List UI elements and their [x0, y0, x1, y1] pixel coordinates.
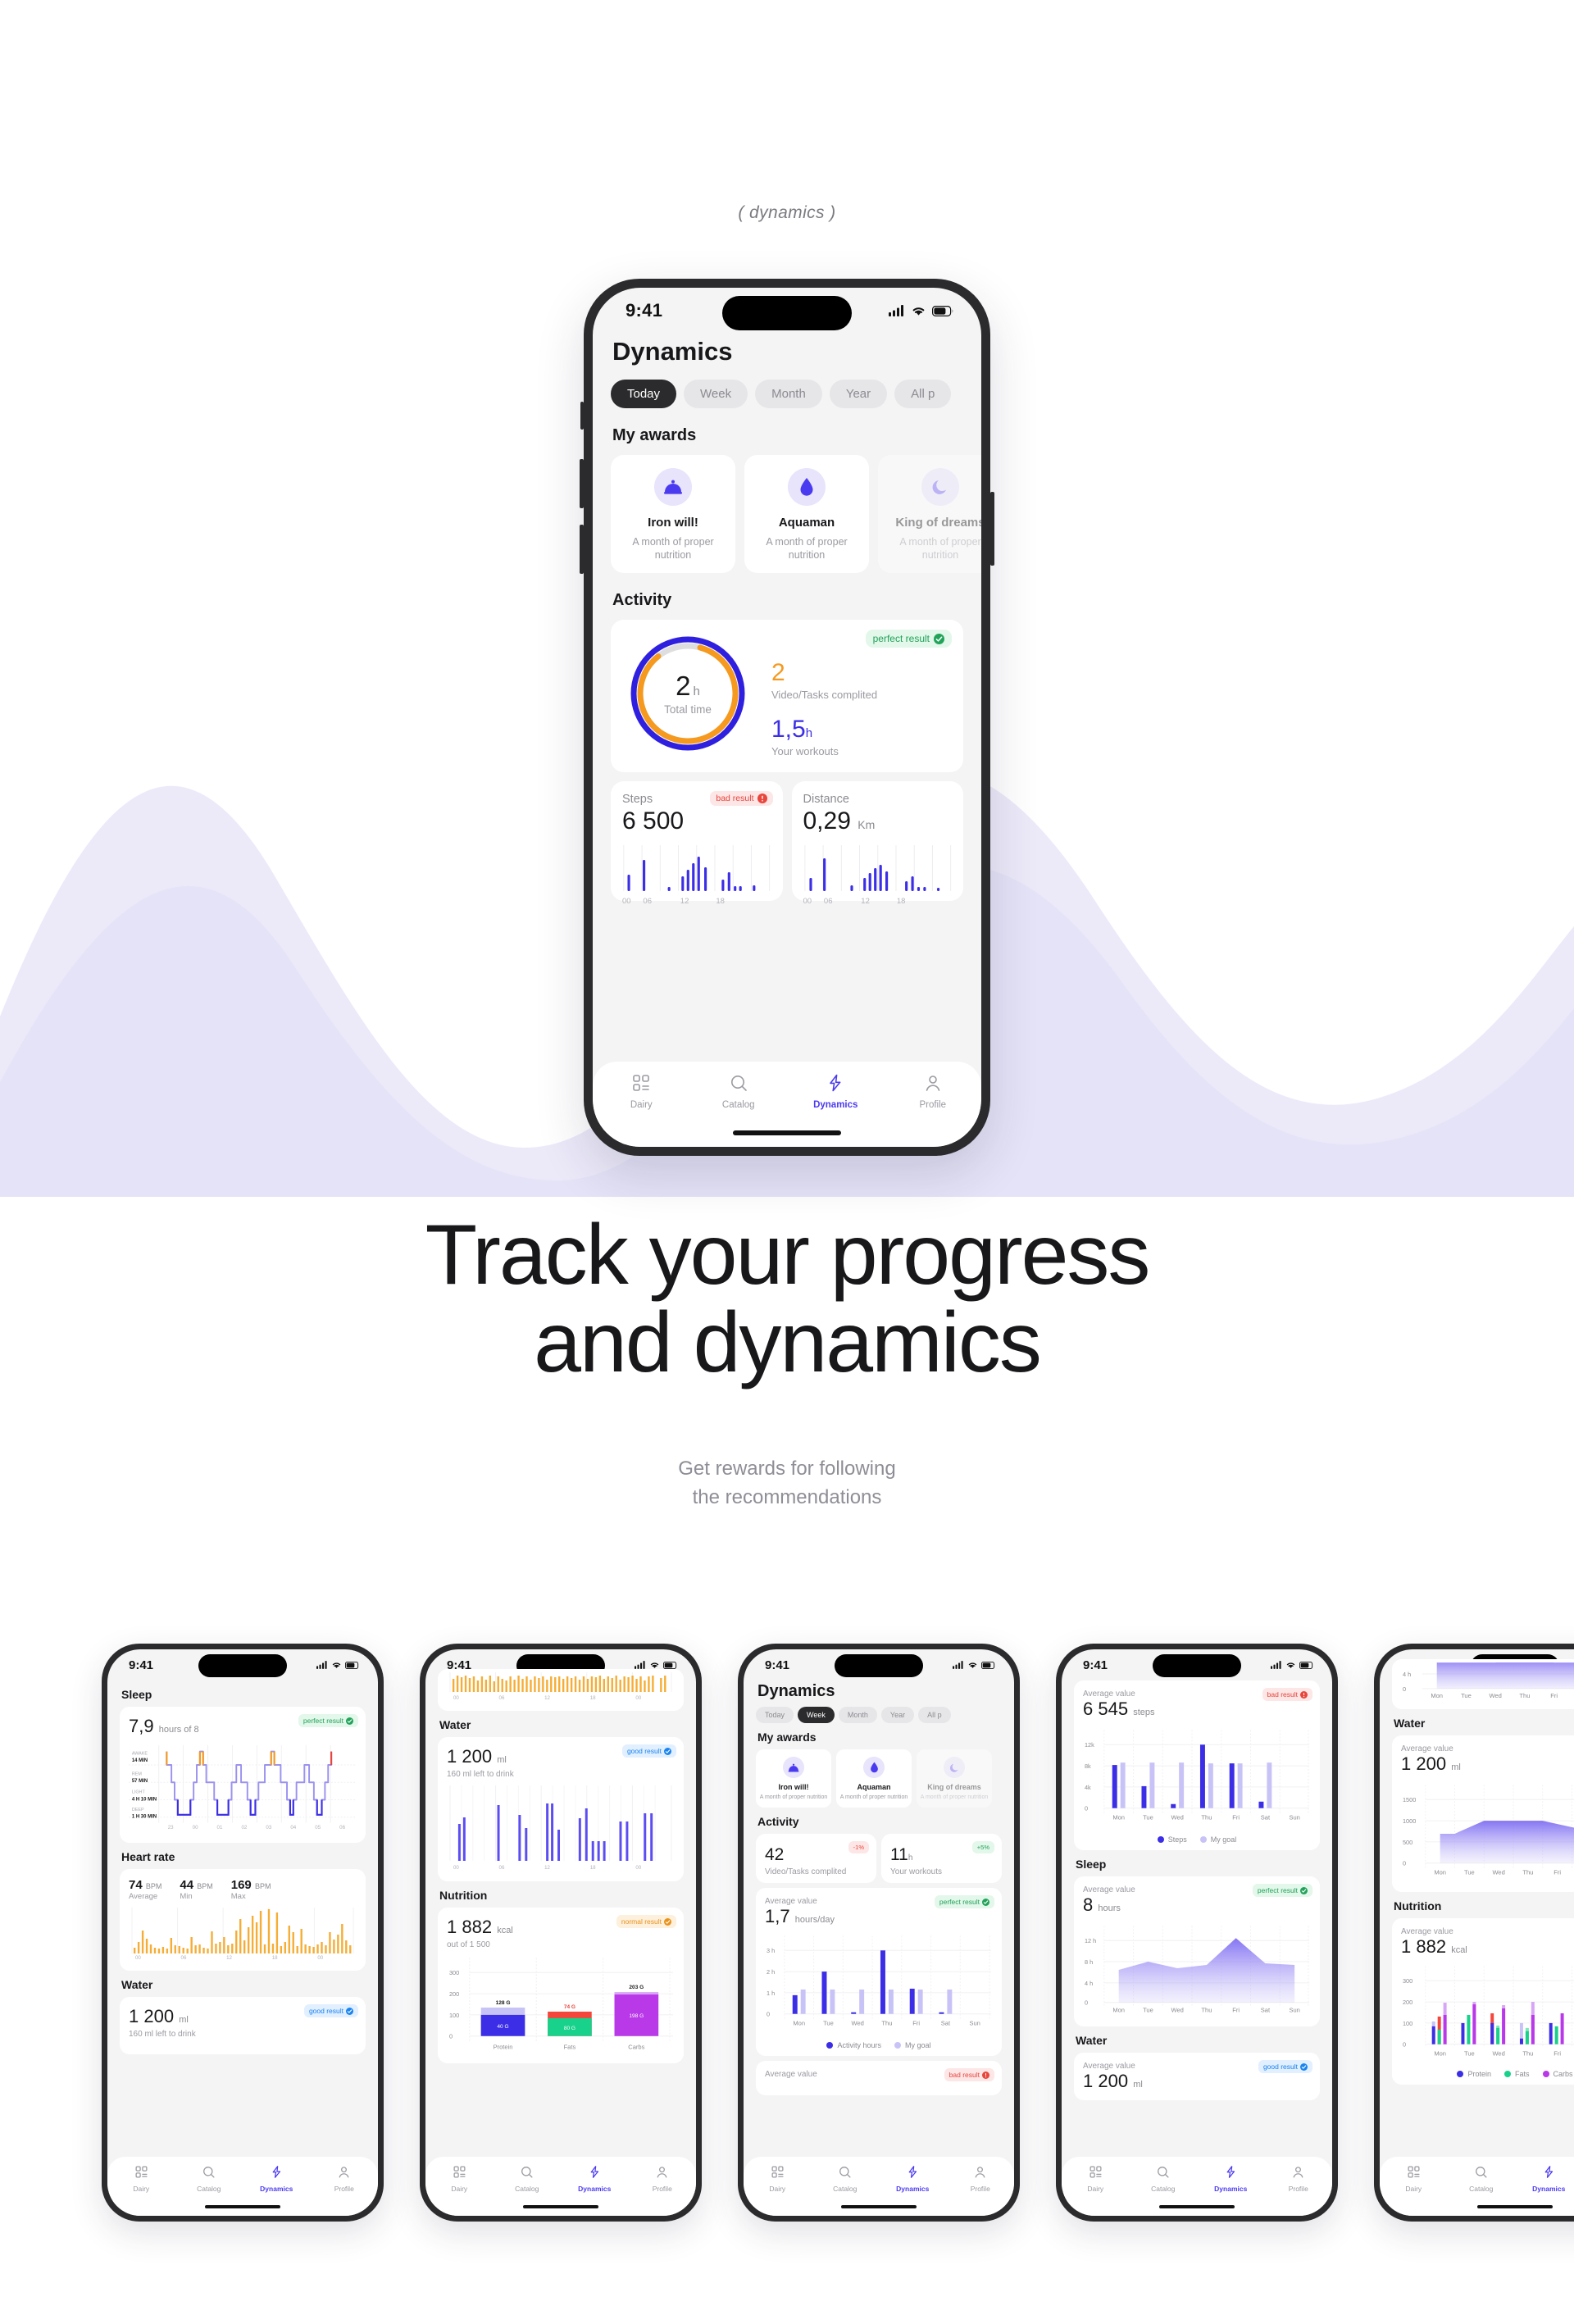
avg-value: 1,7 hours/day [765, 1906, 993, 1927]
home-indicator[interactable] [1159, 2205, 1235, 2208]
water-unit: ml [497, 1755, 507, 1765]
home-indicator[interactable] [523, 2205, 598, 2208]
y-tick: 0 [767, 2011, 770, 2018]
warning-icon [1300, 1691, 1308, 1699]
workouts-stat-card[interactable]: +5% 11h Your workouts [881, 1834, 1002, 1883]
x-tick: Mon [1112, 1814, 1125, 1821]
axis-tick: 03 [266, 1825, 271, 1831]
tab-all-period[interactable]: All p [918, 1707, 951, 1723]
lightning-icon [1542, 2165, 1556, 2179]
nutrition-card[interactable]: normal result 1 882 kcal out of 1 500 [438, 1908, 684, 2063]
nutrition-week-card[interactable]: Average value 1 882 kcal [1392, 1918, 1574, 2085]
badge-label: normal result [621, 1917, 662, 1926]
status-icons [953, 1661, 996, 1669]
warning-icon [982, 2072, 989, 2079]
tab-year[interactable]: Year [881, 1707, 914, 1723]
y-tick: 500 [1403, 1839, 1413, 1846]
x-tick: Mon [1431, 1692, 1443, 1699]
ring-value-unit: h [694, 684, 700, 698]
nav-item-dynamics[interactable]: Dynamics [879, 2165, 947, 2193]
nav-item-dynamics[interactable]: Dynamics [1197, 2165, 1265, 2193]
distance-unit: Km [858, 818, 875, 831]
status-icons [889, 305, 953, 316]
awards-list: Iron will! A month of proper nutrition A… [756, 1749, 1002, 1808]
legend-label: Fats [1515, 2070, 1530, 2078]
headline-line-2: and dynamics [0, 1299, 1574, 1387]
water-number: 1 200 [129, 2006, 174, 2026]
nav-label: Dairy [1062, 2185, 1130, 2193]
sleep-week-area-chart: 12 h 8 h 4 h 0 Mon Tue Wed Thu [1083, 1921, 1311, 2016]
chart-legend: Activity hours My goal [765, 2041, 993, 2049]
x-tick: Thu [1522, 1869, 1533, 1876]
person-icon [1291, 2165, 1305, 2179]
axis-tick: 05 [315, 1825, 321, 1831]
axis-tick: 18 [590, 1695, 596, 1700]
hr-unit: BPM [255, 1882, 271, 1890]
nav-label: Dairy [425, 2185, 494, 2193]
x-tick: Mon [1112, 2007, 1125, 2014]
nav-item-profile[interactable]: Profile [1265, 2165, 1333, 2193]
water-card[interactable]: good result 1 200 ml 160 ml left to drin… [120, 1997, 366, 2054]
steps-card[interactable]: Steps bad result 6 500 [611, 781, 783, 901]
stage-dur-light: 4 H 10 MIN [132, 1797, 157, 1802]
phone-mockup-sleep: 9:41 Sleep perfect result [102, 1644, 384, 2222]
y-tick: 200 [1403, 1999, 1413, 2006]
badge-label: bad result [1267, 1690, 1298, 1699]
sleep-section-title: Sleep [121, 1688, 366, 1701]
x-tick: Thu [881, 2020, 892, 2027]
nav-item-dairy[interactable]: Dairy [425, 2165, 494, 2193]
nav-item-dynamics[interactable]: Dynamics [243, 2165, 311, 2193]
fats-actual-label: 80 G [564, 2026, 575, 2031]
award-card-iron-will[interactable]: Iron will! A month of proper nutrition [756, 1749, 831, 1808]
legend-color-dot [1200, 1836, 1207, 1843]
badge-label: good result [1263, 2062, 1298, 2071]
axis-tick: 12 [544, 1865, 550, 1871]
avg-label: Average value [1401, 1927, 1574, 1936]
axis-tick: 04 [290, 1825, 296, 1831]
axis-tick: 06 [339, 1825, 345, 1831]
chart-legend: Protein Fats Carbs [1401, 2070, 1574, 2078]
nav-item-profile[interactable]: Profile [885, 1073, 982, 1110]
tab-year[interactable]: Year [830, 380, 887, 408]
check-icon [346, 1717, 353, 1725]
legend-color-dot [1158, 1836, 1164, 1843]
axis-tick: 18 [590, 1865, 596, 1871]
power-button[interactable] [990, 492, 994, 566]
steps-value: 6 500 [622, 807, 771, 835]
nav-item-dynamics[interactable]: Dynamics [561, 2165, 629, 2193]
axis-tick: 12 [544, 1695, 550, 1700]
tab-today[interactable]: Today [611, 380, 676, 408]
home-indicator[interactable] [841, 2205, 917, 2208]
home-indicator[interactable] [205, 2205, 280, 2208]
nutrition-number: 1 882 [1401, 1936, 1446, 1957]
nav-label: Dynamics [243, 2185, 311, 2193]
person-icon [923, 1073, 943, 1093]
award-name: Iron will! [759, 1783, 828, 1791]
workouts-unit: h [806, 726, 812, 740]
battery-icon [981, 1662, 996, 1669]
dynamic-island [1153, 1654, 1241, 1677]
nav-label: Profile [885, 1100, 982, 1110]
x-tick-protein: Protein [494, 2044, 513, 2051]
hr-unit: BPM [197, 1882, 213, 1890]
nav-item-profile[interactable]: Profile [947, 2165, 1015, 2193]
cellular-icon [316, 1661, 328, 1669]
y-tick: 300 [1403, 1977, 1413, 1985]
search-icon [838, 2165, 852, 2179]
nav-item-catalog[interactable]: Catalog [494, 2165, 562, 2193]
legend-color-dot [894, 2042, 901, 2049]
page-title: Dynamics [612, 337, 963, 366]
sleep-hypnogram-chart: AWAKE 14 MIN REM 57 MIN LIGHT 4 H 10 MIN… [129, 1744, 357, 1832]
nutrition-number: 1 882 [447, 1917, 492, 1937]
axis-tick: 06 [643, 897, 680, 906]
steps-number: 6 545 [1083, 1699, 1128, 1719]
tab-month[interactable]: Month [839, 1707, 877, 1723]
status-badge: bad result [1262, 1688, 1312, 1701]
water-drop-icon [863, 1757, 885, 1778]
x-tick: Wed [1492, 1869, 1504, 1876]
protein-actual-label: 40 G [497, 2024, 508, 2030]
check-icon [664, 1918, 671, 1926]
legend-label: My goal [905, 2041, 931, 2049]
x-tick: Sat [1261, 1814, 1271, 1821]
activity-hours-week-chart: 3 h 2 h 1 h 0 [765, 1932, 993, 2032]
distance-number: 0,29 [803, 807, 851, 835]
sleep-week-area-partial: 4 h 0 Mon Tue Wed Thu Fri Sat Sun [1401, 1662, 1574, 1699]
nav-item-catalog[interactable]: Catalog [812, 2165, 880, 2193]
status-bar: 9:41 [593, 288, 981, 334]
status-badge: bad result [944, 2068, 994, 2081]
hr-unit: BPM [146, 1882, 162, 1890]
grid-icon [453, 2165, 466, 2179]
legend-color-dot [1457, 2071, 1463, 2077]
nav-item-dairy[interactable]: Dairy [593, 1073, 690, 1110]
hr-value: 74 BPM [129, 1878, 161, 1892]
x-tick: Wed [1492, 2050, 1504, 2058]
phone-screen: 9:41 [425, 1649, 696, 2216]
activity-card[interactable]: perfect result 2h [611, 620, 963, 772]
axis-tick: 00 [635, 1695, 641, 1700]
nav-item-catalog[interactable]: Catalog [175, 2165, 243, 2193]
award-card-aquaman[interactable]: Aquaman A month of proper nutrition [744, 455, 869, 573]
nutrition-value: 1 882 kcal [1401, 1936, 1574, 1958]
period-filter-tabs[interactable]: Today Week Month Year All p [756, 1707, 1002, 1723]
nav-item-dynamics[interactable]: Dynamics [1515, 2165, 1574, 2193]
sleep-week-card[interactable]: perfect result Average value 8 hours [1074, 1876, 1320, 2026]
status-bar: 9:41 [1062, 1649, 1332, 1680]
x-tick: Fri [912, 2020, 920, 2027]
nutrition-bar-chart: 300 200 100 0 128 G 40 G [447, 1956, 675, 2053]
check-icon [1300, 2063, 1308, 2071]
cellular-icon [635, 1661, 646, 1669]
legend-my-goal: My goal [1200, 1835, 1237, 1844]
grid-icon [631, 1073, 651, 1093]
status-badge: perfect result [298, 1714, 358, 1727]
hr-label: Max [231, 1892, 271, 1901]
nav-label: Profile [629, 2185, 697, 2193]
steps-week-card[interactable]: bad result Average value 6 545 steps [1074, 1680, 1320, 1850]
nav-label: Dynamics [787, 1100, 885, 1110]
award-desc: A month of proper nutrition [759, 1794, 828, 1801]
y-tick: 200 [449, 1990, 459, 1998]
x-tick: Thu [1519, 1692, 1530, 1699]
check-icon [1300, 1887, 1308, 1894]
status-time: 9:41 [626, 300, 662, 321]
activity-hours-card[interactable]: perfect result Average value 1,7 hours/d… [756, 1888, 1002, 2056]
status-time: 9:41 [1083, 1658, 1108, 1672]
water-section-title: Water [1394, 1717, 1574, 1730]
home-indicator[interactable] [1477, 2205, 1553, 2208]
axis-tick: 23 [168, 1825, 174, 1831]
y-tick: 1 h [767, 1990, 775, 1997]
home-indicator[interactable] [733, 1130, 841, 1135]
nav-item-dairy[interactable]: Dairy [1380, 2165, 1448, 2193]
legend-my-goal: My goal [894, 2041, 931, 2049]
water-week-card[interactable]: good result Average value 1 200 ml [1074, 2053, 1320, 2100]
sleep-number: 7,9 [129, 1716, 154, 1736]
nav-label: Profile [947, 2185, 1015, 2193]
sleep-area [1119, 1938, 1294, 2002]
period-filter-tabs[interactable]: Today Week Month Year All p [611, 380, 963, 408]
y-tick: 1000 [1403, 1817, 1416, 1825]
steps-status-badge: bad result [710, 791, 772, 806]
grid-icon [134, 2165, 148, 2179]
status-badge: perfect result [866, 630, 952, 648]
delta-badge: +5% [972, 1841, 994, 1853]
x-tick: Tue [1143, 1814, 1153, 1821]
y-tick: 4k [1085, 1784, 1091, 1791]
nav-item-dairy[interactable]: Dairy [1062, 2165, 1130, 2193]
badge-label: bad result [716, 794, 753, 803]
legend-steps: Steps [1158, 1835, 1187, 1844]
volume-down-button[interactable] [580, 525, 584, 574]
tab-all-period[interactable]: All p [894, 380, 951, 408]
axis-tick: 12 [861, 897, 897, 906]
battery-icon [345, 1662, 360, 1669]
hr-value: 44 BPM [180, 1878, 212, 1892]
x-tick: Tue [1464, 2050, 1475, 2058]
sleep-card[interactable]: perfect result 7,9 hours of 8 [120, 1707, 366, 1843]
axis-tick: 00 [803, 897, 824, 906]
x-tick: Thu [1522, 2050, 1533, 2058]
water-hourly-bar-chart: 00 06 12 18 00 [447, 1785, 675, 1871]
lightning-icon [826, 1073, 845, 1093]
y-tick: 0 [1085, 1999, 1088, 2007]
volume-up-button[interactable] [580, 459, 584, 508]
x-tick: Fri [1550, 1692, 1558, 1699]
person-icon [973, 2165, 987, 2179]
heart-rate-card-partial[interactable]: 00 06 12 18 00 [438, 1669, 684, 1711]
person-icon [655, 2165, 669, 2179]
phone-content: Sleep perfect result 7,9 hours of 8 [107, 1688, 378, 2054]
hr-label: Average [129, 1892, 161, 1901]
water-week-card[interactable]: Average value 1 200 ml [1392, 1735, 1574, 1892]
hr-number: 44 [180, 1878, 193, 1892]
hero-subheadline: Get rewards for following the recommenda… [0, 1455, 1574, 1512]
battery-icon [1299, 1662, 1314, 1669]
phone-content: bad result Average value 6 545 steps [1062, 1680, 1332, 2100]
awards-section-title: My awards [612, 426, 963, 445]
phone-content: Dynamics Today Week Month Year All p My … [744, 1682, 1014, 2095]
nav-item-dairy[interactable]: Dairy [107, 2165, 175, 2193]
stage-label-rem: REM [132, 1772, 142, 1777]
y-tick: 12k [1085, 1741, 1094, 1749]
hr-value: 169 BPM [231, 1878, 271, 1892]
sleep-week-card-partial[interactable]: 4 h 0 Mon Tue Wed Thu Fri Sat Sun [1392, 1659, 1574, 1709]
dome-icon [783, 1757, 804, 1778]
award-name: Iron will! [617, 516, 729, 530]
nav-label: Dynamics [561, 2185, 629, 2193]
phone-screen: 9:41 Dynamics Today Week Month Year [744, 1649, 1014, 2216]
workouts-label: Your workouts [771, 745, 950, 757]
grid-icon [771, 2165, 785, 2179]
water-unit: ml [179, 2015, 189, 2025]
water-section-title: Water [121, 1978, 366, 1991]
bottom-navigation: Dairy Catalog Dynamics Profile [744, 2157, 1014, 2216]
y-tick: 0 [1085, 1805, 1088, 1812]
status-badge: good result [622, 1744, 676, 1758]
status-time: 9:41 [765, 1658, 789, 1672]
axis-tick: 18 [716, 897, 752, 906]
tab-week[interactable]: Week [798, 1707, 835, 1723]
ring-value: 2h [676, 672, 700, 699]
page-title: Dynamics [757, 1682, 1002, 1701]
axis-tick: 00 [317, 1955, 323, 1960]
award-desc: A month of proper nutrition [839, 1794, 908, 1801]
total-time-ring-chart: 2h Total time [627, 633, 748, 754]
nav-item-catalog[interactable]: Catalog [690, 1073, 788, 1110]
nav-label: Dairy [593, 1100, 690, 1110]
awards-list: Iron will! A month of proper nutrition A… [611, 455, 963, 573]
nav-item-profile[interactable]: Profile [629, 2165, 697, 2193]
x-tick-carbs: Carbs [628, 2044, 644, 2051]
phone-screen: 9:41 bad result Average value [1062, 1649, 1332, 2216]
nav-item-catalog[interactable]: Catalog [1448, 2165, 1516, 2193]
x-tick: Wed [1171, 1814, 1183, 1821]
award-desc: A month of proper nutrition [920, 1794, 989, 1801]
award-name: King of dreams [920, 1783, 989, 1791]
legend-label: My goal [1211, 1835, 1237, 1844]
tab-today[interactable]: Today [756, 1707, 794, 1723]
carbs-actual-label: 198 G [629, 2013, 644, 2019]
avg-label: Average value [1401, 1744, 1574, 1753]
bottom-navigation: Dairy Catalog Dynamics Profile [425, 2157, 696, 2216]
badge-label: perfect result [873, 633, 930, 644]
hero-screen: 9:41 [593, 288, 981, 1147]
award-desc: A month of proper nutrition [617, 535, 729, 562]
x-tick: Fri [1554, 2050, 1561, 2058]
distance-card[interactable]: Distance 0,29 Km [792, 781, 964, 901]
check-icon [346, 2008, 353, 2015]
phone-mockup-steps-week: 9:41 bad result Average value [1056, 1644, 1338, 2222]
x-tick: Wed [1171, 2007, 1183, 2014]
legend-label: Steps [1168, 1835, 1187, 1844]
axis-tick: 00 [453, 1865, 459, 1871]
steps-week-chart: 12k 8k 4k 0 [1083, 1725, 1311, 1826]
x-tick: Mon [793, 2020, 805, 2027]
award-desc: A month of proper nutrition [751, 535, 862, 562]
hr-number: 74 [129, 1878, 143, 1892]
warning-icon [757, 794, 767, 803]
legend-color-dot [1543, 2071, 1549, 2077]
y-tick: 8 h [1085, 1958, 1093, 1966]
heart-rate-card[interactable]: 74 BPM Average 44 BPM Min [120, 1869, 366, 1971]
distance-value: 0,29 Km [803, 807, 953, 835]
legend-label: Carbs [1554, 2070, 1573, 2078]
award-card-king-of-dreams[interactable]: King of dreams A month of proper nutriti… [917, 1749, 992, 1808]
next-metric-card[interactable]: bad result Average value [756, 2061, 1002, 2095]
badge-label: perfect result [303, 1717, 343, 1725]
mute-switch[interactable] [580, 402, 584, 430]
workouts-value: 1,5h [771, 717, 950, 742]
status-badge: good result [304, 2004, 358, 2017]
nav-item-dynamics[interactable]: Dynamics [787, 1073, 885, 1110]
legend-label: Protein [1467, 2070, 1491, 2078]
x-tick-fats: Fats [564, 2044, 576, 2051]
legend-activity-hours: Activity hours [826, 2041, 881, 2049]
award-card-iron-will[interactable]: Iron will! A month of proper nutrition [611, 455, 735, 573]
page-caption: ( dynamics ) [0, 203, 1574, 223]
nav-item-dairy[interactable]: Dairy [744, 2165, 812, 2193]
y-tick: 300 [449, 1969, 459, 1976]
cellular-icon [953, 1661, 964, 1669]
axis-tick: 00 [622, 897, 643, 906]
status-badge: perfect result [1253, 1884, 1312, 1897]
hr-number: 169 [231, 1878, 252, 1892]
dynamic-island [722, 296, 852, 330]
axis-tick: 12 [226, 1955, 232, 1960]
award-card-king-of-dreams[interactable]: King of dreams A month of proper nutriti… [878, 455, 981, 573]
search-icon [1474, 2165, 1488, 2179]
check-icon [934, 634, 944, 644]
water-card[interactable]: good result 1 200 ml 160 ml left to drin… [438, 1737, 684, 1881]
axis-tick: 06 [824, 897, 861, 906]
lightning-icon [1224, 2165, 1238, 2179]
nav-label: Catalog [690, 1100, 788, 1110]
axis-tick: 00 [193, 1825, 198, 1831]
water-number: 1 200 [447, 1746, 492, 1767]
legend-label: Activity hours [837, 2041, 881, 2049]
water-area [1440, 1821, 1574, 1863]
workouts-number: 1,5 [771, 716, 806, 743]
avg-number: 1,7 [765, 1906, 790, 1926]
nav-item-catalog[interactable]: Catalog [1130, 2165, 1198, 2193]
fats-goal-label: 74 G [564, 2004, 575, 2010]
hero-content: Dynamics Today Week Month Year All p My … [593, 337, 981, 901]
y-tick: 0 [1403, 2041, 1406, 2049]
ring-center-label: 2h Total time [627, 633, 748, 754]
x-tick: Tue [1143, 2007, 1153, 2014]
axis-tick: 02 [242, 1825, 248, 1831]
tab-month[interactable]: Month [755, 380, 822, 408]
axis-tick: 12 [680, 897, 716, 906]
phone-content: 4 h 0 Mon Tue Wed Thu Fri Sat Sun [1380, 1659, 1574, 2085]
hr-stat-max: 169 BPM Max [231, 1878, 271, 1901]
award-name: King of dreams [885, 516, 981, 530]
status-time: 9:41 [129, 1658, 153, 1672]
workouts-label: Your workouts [890, 1867, 993, 1876]
workouts-unit: h [908, 1853, 913, 1862]
nav-label: Catalog [1130, 2185, 1198, 2193]
award-card-aquaman[interactable]: Aquaman A month of proper nutrition [836, 1749, 912, 1808]
nav-item-profile[interactable]: Profile [311, 2165, 379, 2193]
tasks-stat-card[interactable]: -1% 42 Video/Tasks complited [756, 1834, 876, 1883]
nutrition-unit: kcal [497, 1926, 513, 1935]
tab-week[interactable]: Week [684, 380, 748, 408]
